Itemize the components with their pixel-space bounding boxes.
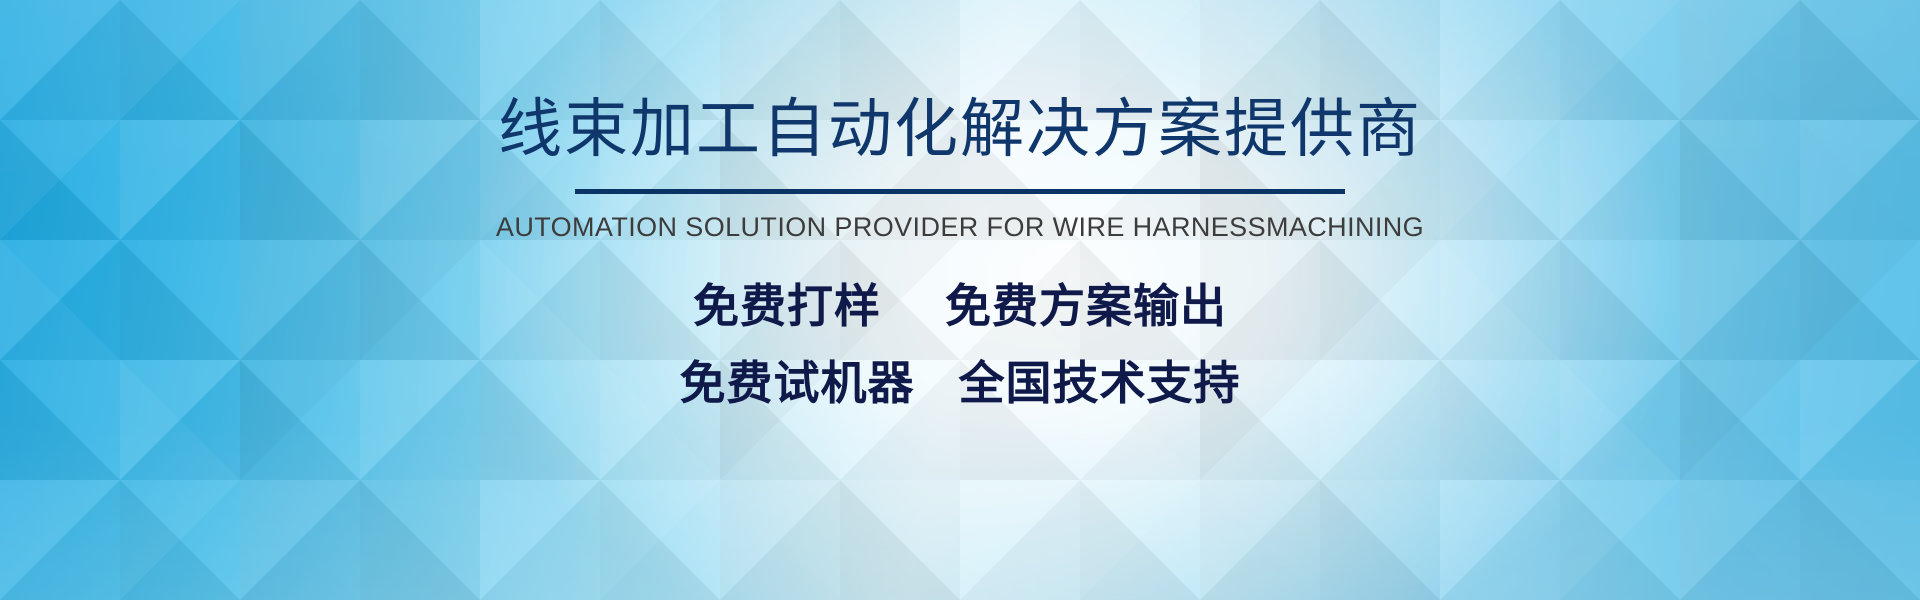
page-subtitle: AUTOMATION SOLUTION PROVIDER FOR WIRE HA… (496, 213, 1424, 243)
feature-row: 免费试机器 全国技术支持 (680, 350, 1241, 417)
feature-item: 免费打样 (693, 273, 881, 340)
page-title: 线束加工自动化解决方案提供商 (498, 96, 1422, 163)
hero-banner: 线束加工自动化解决方案提供商 AUTOMATION SOLUTION PROVI… (0, 0, 1920, 600)
feature-row: 免费打样 免费方案输出 (693, 273, 1227, 340)
feature-item: 免费试机器 (680, 350, 915, 417)
title-divider (575, 189, 1345, 194)
feature-item: 全国技术支持 (959, 350, 1241, 417)
feature-item: 免费方案输出 (945, 273, 1227, 340)
feature-list: 免费打样 免费方案输出 免费试机器 全国技术支持 (680, 273, 1241, 416)
banner-content: 线束加工自动化解决方案提供商 AUTOMATION SOLUTION PROVI… (0, 0, 1920, 600)
